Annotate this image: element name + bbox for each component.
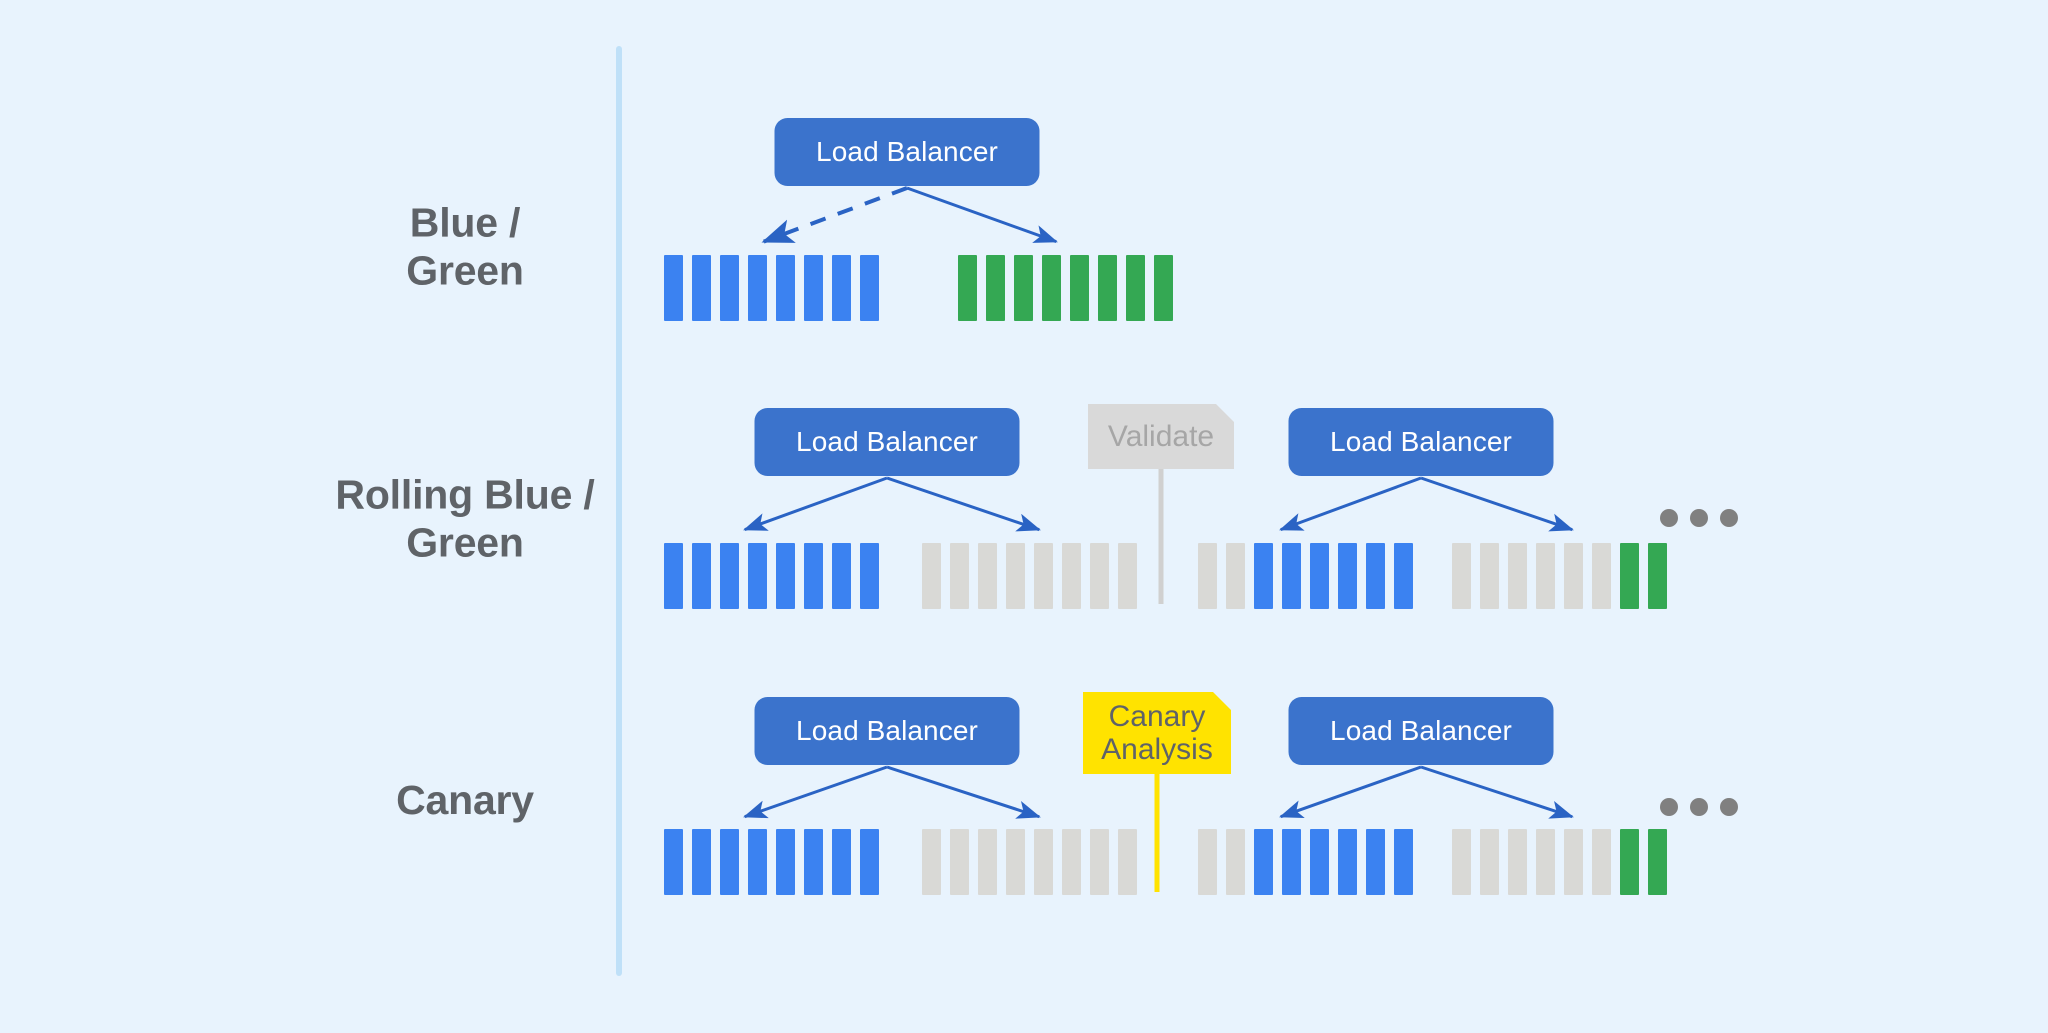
load-balancer-canary-stage-1[interactable]: Load Balancer [755,697,1020,765]
diagram-canvas: Blue / GreenLoad BalancerRolling Blue / … [0,0,2048,1033]
instance-bar-blue [664,543,683,609]
instance-bar-green [958,255,977,321]
connector-arrow [764,188,907,242]
instance-bar-grey [1006,543,1025,609]
instance-bar-blue [804,829,823,895]
instance-bar-grey [1480,543,1499,609]
instance-bar-blue [664,255,683,321]
instance-bar-grey [1062,829,1081,895]
connector-arrow [907,188,1056,242]
instance-bar-grey [1508,829,1527,895]
tag-pole-canary-analysis-tag [1155,774,1160,892]
instance-bar-blue [776,255,795,321]
instance-bar-blue [832,829,851,895]
instance-bar-blue [1394,543,1413,609]
row-label-blue-green: Blue / Green [406,199,524,296]
instance-bar-grey [1090,543,1109,609]
ellipsis-canary-ellipsis [1660,798,1738,816]
instance-bar-grey [1034,543,1053,609]
tag-canary-analysis-tag[interactable]: Canary Analysis [1083,692,1231,774]
instance-bar-grey [1452,829,1471,895]
row-label-rolling-blue-green: Rolling Blue / Green [335,471,594,568]
instance-group-rbg-s1-left [664,543,879,609]
instance-bar-grey [1564,543,1583,609]
tag-label-canary-analysis-tag: Canary Analysis [1083,692,1231,774]
instance-bar-blue [692,255,711,321]
ellipsis-dot [1660,798,1678,816]
tag-pole-validate-tag [1159,469,1164,604]
connector-arrow [887,478,1039,530]
instance-bar-blue [860,255,879,321]
instance-bar-blue [1310,543,1329,609]
instance-bar-grey [1006,829,1025,895]
instance-bar-blue [860,829,879,895]
instance-bar-grey [1198,543,1217,609]
instance-bar-grey [1034,829,1053,895]
instance-bar-grey [1062,543,1081,609]
instance-bar-green [1126,255,1145,321]
load-balancer-canary-stage-2[interactable]: Load Balancer [1289,697,1554,765]
ellipsis-dot [1720,509,1738,527]
instance-group-rbg-s2-left [1198,543,1413,609]
instance-bar-green [1014,255,1033,321]
instance-bar-blue [692,543,711,609]
instance-bar-grey [1226,543,1245,609]
row-label-canary: Canary [396,776,534,824]
instance-bar-blue [832,255,851,321]
instance-bar-blue [1282,543,1301,609]
connector-arrow [1421,767,1572,817]
instance-bar-blue [748,255,767,321]
load-balancer-bg-stage-1[interactable]: Load Balancer [775,118,1040,186]
instance-bar-grey [950,543,969,609]
instance-bar-grey [1564,829,1583,895]
instance-bar-blue [804,543,823,609]
load-balancer-rbg-stage-2[interactable]: Load Balancer [1289,408,1554,476]
instance-bar-grey [1592,543,1611,609]
instance-group-bg-blue-pool [664,255,879,321]
instance-bar-blue [720,255,739,321]
instance-bar-grey [922,543,941,609]
ellipsis-dot [1660,509,1678,527]
instance-bar-blue [832,543,851,609]
ellipsis-dot [1690,798,1708,816]
instance-bar-blue [748,829,767,895]
instance-bar-grey [978,543,997,609]
instance-bar-blue [748,543,767,609]
instance-bar-green [1648,829,1667,895]
instance-bar-blue [1254,829,1273,895]
load-balancer-rbg-stage-1[interactable]: Load Balancer [755,408,1020,476]
instance-group-bg-green-pool [958,255,1173,321]
instance-group-rbg-s2-right [1452,543,1667,609]
instance-bar-blue [1338,829,1357,895]
instance-group-canary-s2-left [1198,829,1413,895]
instance-bar-grey [1198,829,1217,895]
instance-bar-blue [1254,543,1273,609]
instance-bar-green [1042,255,1061,321]
instance-bar-blue [1366,829,1385,895]
ellipsis-dot [1720,798,1738,816]
instance-bar-blue [1394,829,1413,895]
tag-validate-tag[interactable]: Validate [1088,404,1234,469]
instance-group-canary-s1-right [922,829,1137,895]
instance-bar-green [986,255,1005,321]
instance-bar-blue [1310,829,1329,895]
ellipsis-rbg-ellipsis [1660,509,1738,527]
connector-arrow [887,767,1039,817]
instance-bar-blue [804,255,823,321]
instance-bar-green [1098,255,1117,321]
instance-bar-grey [1118,543,1137,609]
instance-bar-grey [1536,543,1555,609]
vertical-divider [616,46,622,976]
instance-bar-blue [1338,543,1357,609]
connector-arrow [745,767,887,817]
instance-bar-grey [1090,829,1109,895]
instance-bar-grey [1480,829,1499,895]
instance-bar-blue [776,829,795,895]
instance-bar-grey [1536,829,1555,895]
instance-bar-blue [776,543,795,609]
instance-bar-blue [664,829,683,895]
instance-bar-blue [720,829,739,895]
instance-bar-green [1648,543,1667,609]
tag-label-validate-tag: Validate [1088,404,1234,469]
ellipsis-dot [1690,509,1708,527]
connector-arrow [1281,767,1421,817]
instance-group-canary-s1-left [664,829,879,895]
instance-bar-green [1620,543,1639,609]
instance-bar-grey [950,829,969,895]
instance-bar-green [1620,829,1639,895]
instance-bar-blue [860,543,879,609]
instance-bar-grey [978,829,997,895]
instance-bar-blue [1366,543,1385,609]
connector-arrow [745,478,887,530]
instance-bar-blue [720,543,739,609]
instance-bar-grey [1226,829,1245,895]
instance-bar-grey [1118,829,1137,895]
instance-bar-blue [692,829,711,895]
instance-bar-green [1070,255,1089,321]
instance-bar-grey [1592,829,1611,895]
connector-arrow [1281,478,1421,530]
instance-bar-grey [1452,543,1471,609]
instance-bar-green [1154,255,1173,321]
connector-arrow [1421,478,1572,530]
instance-group-rbg-s1-right [922,543,1137,609]
instance-bar-grey [922,829,941,895]
instance-group-canary-s2-right [1452,829,1667,895]
instance-bar-grey [1508,543,1527,609]
instance-bar-blue [1282,829,1301,895]
